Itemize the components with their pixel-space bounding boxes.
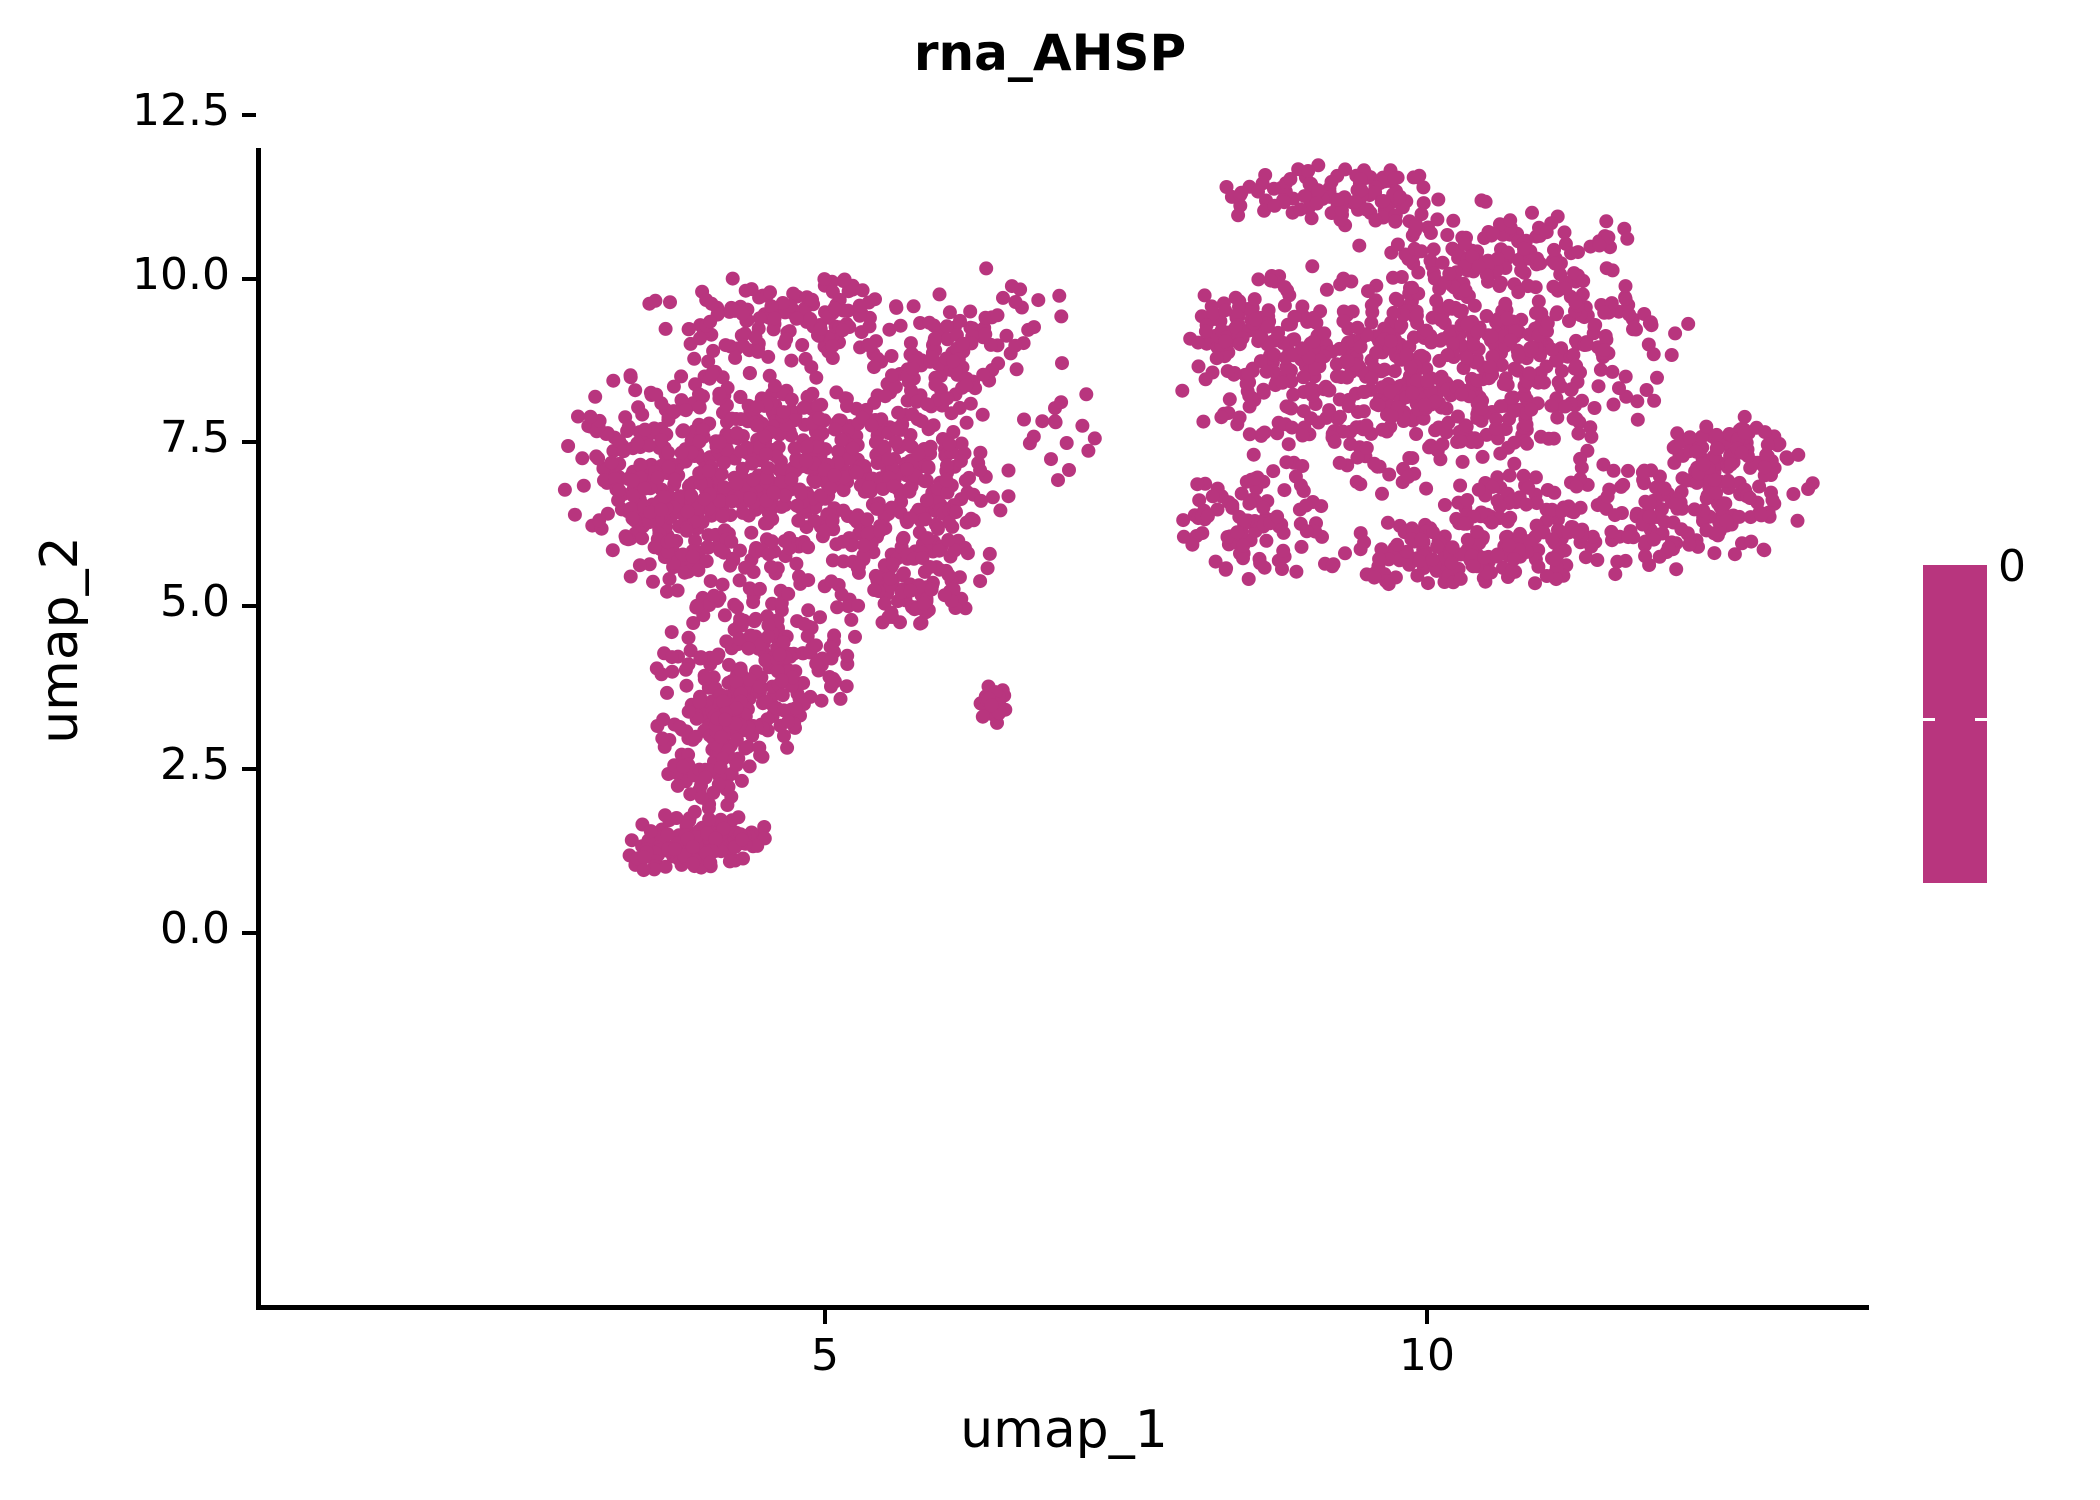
scatter-point bbox=[668, 462, 682, 476]
scatter-point bbox=[974, 696, 988, 710]
scatter-point bbox=[1445, 242, 1459, 256]
scatter-point bbox=[626, 512, 640, 526]
scatter-point bbox=[1357, 163, 1371, 177]
scatter-point bbox=[1660, 545, 1674, 559]
scatter-point bbox=[1351, 405, 1365, 419]
scatter-point bbox=[734, 412, 748, 426]
scatter-point bbox=[905, 407, 919, 421]
scatter-point bbox=[786, 670, 800, 684]
scatter-point bbox=[750, 433, 764, 447]
scatter-point bbox=[1297, 421, 1311, 435]
scatter-point bbox=[1475, 193, 1489, 207]
scatter-point bbox=[1806, 476, 1820, 490]
scatter-point bbox=[695, 707, 709, 721]
scatter-point bbox=[606, 374, 620, 388]
scatter-point bbox=[747, 614, 761, 628]
scatter-point bbox=[1408, 242, 1422, 256]
scatter-point bbox=[663, 511, 677, 525]
scatter-point bbox=[1541, 316, 1555, 330]
scatter-point bbox=[721, 770, 735, 784]
scatter-point bbox=[595, 522, 609, 536]
scatter-point bbox=[1455, 304, 1469, 318]
scatter-point bbox=[1643, 316, 1657, 330]
scatter-point bbox=[1607, 398, 1621, 412]
scatter-point bbox=[1508, 330, 1522, 344]
scatter-point bbox=[700, 540, 714, 554]
scatter-point bbox=[692, 854, 706, 868]
scatter-point bbox=[1416, 543, 1430, 557]
scatter-point bbox=[1284, 317, 1298, 331]
scatter-point bbox=[1548, 552, 1562, 566]
scatter-point bbox=[1485, 368, 1499, 382]
scatter-point bbox=[718, 608, 732, 622]
scatter-point bbox=[1423, 329, 1437, 343]
scatter-point bbox=[1333, 410, 1347, 424]
scatter-point bbox=[690, 521, 704, 535]
scatter-point bbox=[1584, 240, 1598, 254]
scatter-point bbox=[1256, 383, 1270, 397]
scatter-point bbox=[858, 465, 872, 479]
scatter-point bbox=[803, 690, 817, 704]
scatter-point bbox=[886, 479, 900, 493]
scatter-point bbox=[743, 404, 757, 418]
scatter-point bbox=[1302, 350, 1316, 364]
scatter-point bbox=[754, 681, 768, 695]
scatter-point bbox=[1551, 548, 1565, 562]
scatter-point bbox=[1417, 412, 1431, 426]
scatter-point bbox=[1681, 527, 1695, 541]
scatter-point bbox=[1392, 407, 1406, 421]
scatter-point bbox=[1451, 496, 1465, 510]
scatter-point bbox=[1588, 535, 1602, 549]
scatter-point bbox=[706, 344, 720, 358]
scatter-point bbox=[1489, 315, 1503, 329]
scatter-point bbox=[1251, 185, 1265, 199]
scatter-point bbox=[818, 463, 832, 477]
scatter-point bbox=[736, 506, 750, 520]
scatter-point bbox=[1191, 336, 1205, 350]
scatter-point bbox=[1446, 242, 1460, 256]
scatter-point bbox=[813, 610, 827, 624]
scatter-point bbox=[653, 494, 667, 508]
scatter-point bbox=[855, 307, 869, 321]
scatter-point bbox=[730, 680, 744, 694]
scatter-point bbox=[727, 482, 741, 496]
scatter-point bbox=[1549, 252, 1563, 266]
scatter-point bbox=[680, 819, 694, 833]
scatter-point bbox=[754, 718, 768, 732]
scatter-point bbox=[644, 458, 658, 472]
scatter-point bbox=[883, 579, 897, 593]
scatter-point bbox=[672, 520, 686, 534]
scatter-point bbox=[769, 661, 783, 675]
scatter-point bbox=[760, 485, 774, 499]
scatter-point bbox=[773, 660, 787, 674]
scatter-point bbox=[617, 444, 631, 458]
scatter-point bbox=[630, 851, 644, 865]
scatter-point bbox=[1235, 487, 1249, 501]
scatter-point bbox=[947, 498, 961, 512]
scatter-point bbox=[1502, 539, 1516, 553]
scatter-point bbox=[767, 544, 781, 558]
scatter-point bbox=[761, 516, 775, 530]
scatter-point bbox=[843, 284, 857, 298]
scatter-point bbox=[1584, 430, 1598, 444]
scatter-point bbox=[910, 510, 924, 524]
scatter-point bbox=[709, 434, 723, 448]
scatter-point bbox=[770, 384, 784, 398]
scatter-point bbox=[881, 507, 895, 521]
scatter-point bbox=[1661, 487, 1675, 501]
scatter-point bbox=[733, 718, 747, 732]
scatter-point bbox=[1334, 213, 1348, 227]
scatter-point bbox=[644, 426, 658, 440]
scatter-point bbox=[1603, 240, 1617, 254]
scatter-point bbox=[837, 483, 851, 497]
scatter-point bbox=[1534, 307, 1548, 321]
scatter-point bbox=[636, 513, 650, 527]
scatter-point bbox=[694, 833, 708, 847]
scatter-point bbox=[1523, 252, 1537, 266]
scatter-point bbox=[1761, 449, 1775, 463]
scatter-point bbox=[1410, 551, 1424, 565]
scatter-point bbox=[797, 501, 811, 515]
scatter-point bbox=[1477, 571, 1491, 585]
scatter-point bbox=[1217, 296, 1231, 310]
scatter-point bbox=[675, 748, 689, 762]
scatter-point bbox=[1272, 520, 1286, 534]
scatter-point bbox=[789, 537, 803, 551]
scatter-point bbox=[695, 821, 709, 835]
scatter-point bbox=[1662, 541, 1676, 555]
scatter-point bbox=[1506, 315, 1520, 329]
scatter-point bbox=[805, 293, 819, 307]
scatter-point bbox=[823, 670, 837, 684]
scatter-point bbox=[1551, 523, 1565, 537]
scatter-point bbox=[1650, 528, 1664, 542]
scatter-point bbox=[806, 318, 820, 332]
scatter-point bbox=[996, 683, 1010, 697]
scatter-point bbox=[1195, 509, 1209, 523]
scatter-point bbox=[1404, 289, 1418, 303]
scatter-point bbox=[1279, 455, 1293, 469]
scatter-point bbox=[805, 621, 819, 635]
scatter-point bbox=[1369, 329, 1383, 343]
scatter-point bbox=[1399, 390, 1413, 404]
scatter-point bbox=[1297, 484, 1311, 498]
scatter-point bbox=[836, 535, 850, 549]
scatter-point bbox=[581, 419, 595, 433]
scatter-point bbox=[718, 690, 732, 704]
scatter-point bbox=[960, 516, 974, 530]
scatter-point bbox=[737, 707, 751, 721]
scatter-point bbox=[1551, 531, 1565, 545]
scatter-point bbox=[800, 520, 814, 534]
scatter-point bbox=[1473, 321, 1487, 335]
scatter-point bbox=[1384, 410, 1398, 424]
scatter-point bbox=[1381, 383, 1395, 397]
scatter-point bbox=[714, 761, 728, 775]
scatter-point bbox=[1550, 353, 1564, 367]
scatter-point bbox=[1619, 390, 1633, 404]
scatter-point bbox=[911, 579, 925, 593]
scatter-point bbox=[915, 414, 929, 428]
scatter-point bbox=[1667, 441, 1681, 455]
scatter-point bbox=[1236, 539, 1250, 553]
scatter-point bbox=[993, 690, 1007, 704]
scatter-point bbox=[956, 360, 970, 374]
scatter-point bbox=[870, 420, 884, 434]
scatter-point bbox=[1426, 552, 1440, 566]
scatter-point bbox=[843, 419, 857, 433]
scatter-point bbox=[1317, 346, 1331, 360]
scatter-point bbox=[642, 833, 656, 847]
scatter-point bbox=[1562, 499, 1576, 513]
scatter-point bbox=[1559, 558, 1573, 572]
scatter-point bbox=[1234, 186, 1248, 200]
scatter-point bbox=[733, 705, 747, 719]
scatter-point bbox=[822, 311, 836, 325]
scatter-point bbox=[901, 362, 915, 376]
scatter-point bbox=[704, 328, 718, 342]
scatter-point bbox=[661, 413, 675, 427]
scatter-point bbox=[616, 439, 630, 453]
scatter-point bbox=[696, 423, 710, 437]
scatter-point bbox=[1459, 427, 1473, 441]
scatter-point bbox=[1500, 530, 1514, 544]
scatter-point bbox=[1242, 375, 1256, 389]
scatter-point bbox=[1413, 387, 1427, 401]
scatter-point bbox=[752, 469, 766, 483]
scatter-point bbox=[1759, 448, 1773, 462]
scatter-point bbox=[703, 651, 717, 665]
scatter-point bbox=[956, 337, 970, 351]
scatter-point bbox=[898, 584, 912, 598]
scatter-point bbox=[1284, 402, 1298, 416]
scatter-point bbox=[715, 452, 729, 466]
scatter-point bbox=[732, 667, 746, 681]
scatter-point bbox=[1442, 328, 1456, 342]
scatter-point bbox=[1481, 258, 1495, 272]
scatter-point bbox=[823, 468, 837, 482]
scatter-point bbox=[1477, 256, 1491, 270]
scatter-point bbox=[1583, 420, 1597, 434]
scatter-point bbox=[1291, 162, 1305, 176]
colorbar-tick-right bbox=[1975, 718, 1987, 721]
scatter-point bbox=[753, 637, 767, 651]
scatter-point bbox=[729, 675, 743, 689]
scatter-point bbox=[1390, 191, 1404, 205]
scatter-point bbox=[661, 458, 675, 472]
scatter-point bbox=[1430, 564, 1444, 578]
scatter-point bbox=[761, 630, 775, 644]
scatter-point bbox=[1200, 337, 1214, 351]
scatter-point bbox=[921, 581, 935, 595]
scatter-point bbox=[949, 505, 963, 519]
scatter-point bbox=[821, 478, 835, 492]
scatter-point bbox=[1258, 561, 1272, 575]
scatter-point bbox=[952, 352, 966, 366]
scatter-point bbox=[734, 662, 748, 676]
scatter-point bbox=[1581, 478, 1595, 492]
scatter-point bbox=[1592, 379, 1606, 393]
scatter-point bbox=[1393, 352, 1407, 366]
scatter-point bbox=[736, 429, 750, 443]
scatter-point bbox=[689, 828, 703, 842]
scatter-point bbox=[1369, 293, 1383, 307]
scatter-point bbox=[659, 448, 673, 462]
scatter-point bbox=[789, 557, 803, 571]
scatter-point bbox=[1293, 503, 1307, 517]
scatter-point bbox=[877, 568, 891, 582]
scatter-point bbox=[1466, 336, 1480, 350]
scatter-point bbox=[1241, 384, 1255, 398]
scatter-point bbox=[827, 501, 841, 515]
scatter-point bbox=[1404, 360, 1418, 374]
scatter-point bbox=[680, 762, 694, 776]
scatter-point bbox=[1242, 497, 1256, 511]
scatter-point bbox=[865, 536, 879, 550]
scatter-point bbox=[787, 717, 801, 731]
scatter-point bbox=[1299, 359, 1313, 373]
scatter-point bbox=[1691, 467, 1705, 481]
scatter-point bbox=[788, 721, 802, 735]
scatter-point bbox=[1487, 265, 1501, 279]
scatter-point bbox=[1688, 502, 1702, 516]
scatter-point bbox=[680, 524, 694, 538]
scatter-point bbox=[760, 469, 774, 483]
scatter-point bbox=[654, 493, 668, 507]
scatter-point bbox=[765, 490, 779, 504]
scatter-point bbox=[1245, 391, 1259, 405]
scatter-point bbox=[826, 514, 840, 528]
scatter-point bbox=[748, 403, 762, 417]
scatter-point bbox=[882, 323, 896, 337]
scatter-point bbox=[903, 511, 917, 525]
scatter-point bbox=[1454, 435, 1468, 449]
scatter-point bbox=[1081, 444, 1095, 458]
scatter-point bbox=[1573, 365, 1587, 379]
scatter-point bbox=[1382, 577, 1396, 591]
scatter-point bbox=[1636, 465, 1650, 479]
scatter-point bbox=[699, 699, 713, 713]
scatter-point bbox=[1417, 561, 1431, 575]
scatter-point bbox=[1243, 427, 1257, 441]
scatter-point bbox=[1231, 309, 1245, 323]
scatter-point bbox=[1408, 359, 1422, 373]
scatter-point bbox=[905, 479, 919, 493]
scatter-point bbox=[716, 509, 730, 523]
scatter-point bbox=[1410, 305, 1424, 319]
scatter-point bbox=[1459, 418, 1473, 432]
scatter-point bbox=[1564, 397, 1578, 411]
scatter-point bbox=[899, 457, 913, 471]
scatter-point bbox=[1389, 292, 1403, 306]
scatter-point bbox=[749, 544, 763, 558]
scatter-point bbox=[1626, 322, 1640, 336]
scatter-point bbox=[1763, 510, 1777, 524]
scatter-point bbox=[726, 553, 740, 567]
scatter-point bbox=[763, 425, 777, 439]
scatter-point bbox=[1341, 337, 1355, 351]
scatter-point bbox=[678, 566, 692, 580]
scatter-point bbox=[1486, 480, 1500, 494]
scatter-point bbox=[1251, 334, 1265, 348]
scatter-point bbox=[1586, 530, 1600, 544]
scatter-point bbox=[1381, 516, 1395, 530]
scatter-point bbox=[974, 494, 988, 508]
scatter-point bbox=[1507, 436, 1521, 450]
scatter-point bbox=[1711, 528, 1725, 542]
scatter-point bbox=[1231, 325, 1245, 339]
scatter-point bbox=[1651, 510, 1665, 524]
scatter-point bbox=[1490, 263, 1504, 277]
scatter-point bbox=[727, 724, 741, 738]
scatter-point bbox=[920, 474, 934, 488]
scatter-point bbox=[1333, 277, 1347, 291]
scatter-point bbox=[1384, 334, 1398, 348]
scatter-point bbox=[633, 493, 647, 507]
scatter-point bbox=[1521, 279, 1535, 293]
scatter-point bbox=[749, 720, 763, 734]
scatter-point bbox=[1451, 379, 1465, 393]
scatter-point bbox=[1739, 488, 1753, 502]
scatter-point bbox=[1702, 461, 1716, 475]
scatter-point bbox=[1407, 330, 1421, 344]
scatter-point bbox=[1764, 468, 1778, 482]
scatter-point bbox=[1722, 509, 1736, 523]
scatter-point bbox=[1545, 532, 1559, 546]
scatter-point bbox=[1294, 353, 1308, 367]
scatter-point bbox=[1561, 350, 1575, 364]
scatter-point bbox=[767, 688, 781, 702]
scatter-point bbox=[669, 841, 683, 855]
scatter-point bbox=[1647, 347, 1661, 361]
scatter-point bbox=[1475, 414, 1489, 428]
scatter-point bbox=[1723, 456, 1737, 470]
scatter-point bbox=[891, 406, 905, 420]
scatter-point bbox=[884, 502, 898, 516]
scatter-point bbox=[1451, 410, 1465, 424]
scatter-point bbox=[1364, 427, 1378, 441]
scatter-point bbox=[1665, 535, 1679, 549]
scatter-point bbox=[751, 341, 765, 355]
scatter-point bbox=[922, 422, 936, 436]
scatter-point bbox=[1732, 432, 1746, 446]
scatter-point bbox=[1428, 558, 1442, 572]
scatter-point bbox=[719, 824, 733, 838]
scatter-point bbox=[1417, 350, 1431, 364]
scatter-point bbox=[863, 319, 877, 333]
scatter-point bbox=[1525, 206, 1539, 220]
scatter-point bbox=[1577, 338, 1591, 352]
scatter-point bbox=[1457, 517, 1471, 531]
scatter-point bbox=[1408, 408, 1422, 422]
scatter-point bbox=[818, 579, 832, 593]
scatter-point bbox=[1573, 308, 1587, 322]
scatter-point bbox=[900, 369, 914, 383]
scatter-point bbox=[1629, 323, 1643, 337]
scatter-point bbox=[798, 539, 812, 553]
scatter-point bbox=[1465, 244, 1479, 258]
scatter-point bbox=[1401, 249, 1415, 263]
scatter-point bbox=[666, 543, 680, 557]
scatter-point bbox=[1340, 371, 1354, 385]
scatter-point bbox=[1267, 182, 1281, 196]
scatter-point bbox=[710, 745, 724, 759]
scatter-point bbox=[636, 519, 650, 533]
scatter-point bbox=[714, 817, 728, 831]
